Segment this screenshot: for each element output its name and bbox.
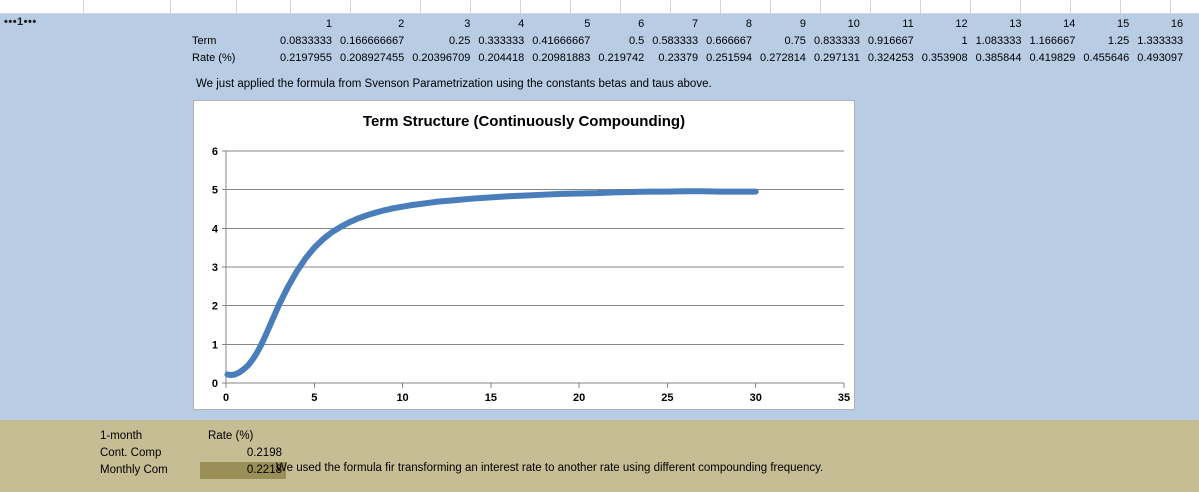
table-cell[interactable]: 0.23379	[648, 50, 702, 67]
column-index-header: 11	[864, 16, 918, 33]
table-cell[interactable]: 0.353908	[918, 50, 972, 67]
table-cell[interactable]: 0.5	[594, 33, 648, 50]
column-index-header: 9	[756, 16, 810, 33]
table-row: Monthly Com0.2218	[98, 462, 286, 479]
column-index-header: 4	[474, 16, 528, 33]
chart-x-tick-label: 20	[573, 392, 585, 404]
chart-y-tick-label: 3	[212, 262, 218, 274]
table-cell[interactable]: 1.333333	[1133, 33, 1187, 50]
chart-y-tick-label: 5	[212, 185, 218, 197]
chart-x-tick-label: 0	[223, 392, 229, 404]
chart-x-tick-label: 30	[750, 392, 762, 404]
spreadsheet-column-strip[interactable]	[0, 0, 1199, 14]
table-cell[interactable]: 0.666667	[702, 33, 756, 50]
table-cell[interactable]: 0.333333	[474, 33, 528, 50]
table-cell[interactable]: 1.25	[1079, 33, 1133, 50]
term-structure-chart[interactable]: Term Structure (Continuously Compounding…	[193, 100, 855, 410]
column-separator	[1070, 0, 1071, 14]
column-separator	[770, 0, 771, 14]
column-separator	[620, 0, 621, 14]
table-cell[interactable]: 0.25	[408, 33, 474, 50]
chart-x-tick-label: 10	[396, 392, 408, 404]
table-row: Cont. Comp0.2198	[98, 445, 286, 462]
column-separator	[1170, 0, 1171, 14]
column-index-header: 16	[1133, 16, 1187, 33]
table-cell[interactable]: 0.833333	[810, 33, 864, 50]
chart-svg: 012345605101520253035	[194, 101, 854, 409]
value-cell[interactable]: 0.2198	[200, 445, 286, 462]
row-label: Rate (%)	[190, 50, 276, 67]
chart-x-tick-label: 5	[311, 392, 317, 404]
chart-x-tick-label: 15	[485, 392, 497, 404]
column-index-header: 14	[1026, 16, 1080, 33]
table-cell[interactable]: 0.385844	[972, 50, 1026, 67]
table-cell[interactable]: 1.166667	[1026, 33, 1080, 50]
row-label: Cont. Comp	[98, 445, 200, 462]
column-separator	[670, 0, 671, 14]
table-cell[interactable]: 1.083333	[972, 33, 1026, 50]
chart-series-line	[227, 191, 755, 375]
table-cell[interactable]: 0.916667	[864, 33, 918, 50]
column-separator	[350, 0, 351, 14]
table-cell[interactable]: 0.583333	[648, 33, 702, 50]
column-separator	[1120, 0, 1121, 14]
table-header-row: 12345678910111213141516	[190, 16, 1187, 33]
table-cell[interactable]: 0.41666667	[528, 33, 594, 50]
row-label: 1-month	[98, 428, 200, 445]
svenson-note: We just applied the formula from Svenson…	[196, 78, 712, 90]
term-rate-table: 12345678910111213141516Term0.08333330.16…	[190, 16, 1187, 67]
table-cell[interactable]: 0.20396709	[408, 50, 474, 67]
table-cell[interactable]: 0.75	[756, 33, 810, 50]
chart-y-tick-label: 1	[212, 339, 218, 351]
compounding-note: We used the formula fir transforming an …	[276, 462, 823, 474]
table-row: 1-monthRate (%)	[98, 428, 286, 445]
table-cell[interactable]: 0.204418	[474, 50, 528, 67]
chart-y-tick-label: 6	[212, 146, 218, 158]
chart-x-tick-label: 25	[661, 392, 673, 404]
table-cell[interactable]: 0.272814	[756, 50, 810, 67]
column-index-header: 6	[594, 16, 648, 33]
row-marker-1: •••1•••	[4, 16, 37, 28]
row-label: Term	[190, 33, 276, 50]
column-separator	[820, 0, 821, 14]
table-cell[interactable]: 0.419829	[1026, 50, 1080, 67]
row-label: Monthly Com	[98, 462, 200, 479]
table-cell[interactable]: 0.455646	[1079, 50, 1133, 67]
compounding-table: 1-monthRate (%)Cont. Comp0.2198Monthly C…	[98, 428, 286, 479]
spreadsheet-screenshot: •••1••• •••2••• 12345678910111213141516T…	[0, 0, 1199, 492]
highlighted-value-cell[interactable]: 0.2218	[200, 462, 286, 479]
chart-y-tick-label: 2	[212, 301, 218, 313]
table-cell[interactable]: 0.251594	[702, 50, 756, 67]
table-row: Term0.08333330.1666666670.250.3333330.41…	[190, 33, 1187, 50]
column-index-header: 7	[648, 16, 702, 33]
chart-y-tick-label: 4	[212, 223, 219, 235]
column-separator	[520, 0, 521, 14]
column-separator	[83, 0, 84, 14]
column-index-header: 3	[408, 16, 474, 33]
column-index-header: 12	[918, 16, 972, 33]
table-cell[interactable]: 0.208927455	[336, 50, 408, 67]
column-separator	[870, 0, 871, 14]
table-cell[interactable]: 0.20981883	[528, 50, 594, 67]
column-separator	[170, 0, 171, 14]
column-index-header: 1	[276, 16, 336, 33]
column-separator	[236, 0, 237, 14]
column-separator	[420, 0, 421, 14]
column-separator	[290, 0, 291, 14]
column-index-header: 2	[336, 16, 408, 33]
column-separator	[470, 0, 471, 14]
table-row: Rate (%)0.21979550.2089274550.203967090.…	[190, 50, 1187, 67]
column-separator	[970, 0, 971, 14]
table-cell[interactable]: 0.2197955	[276, 50, 336, 67]
column-index-header: 15	[1079, 16, 1133, 33]
column-index-header: 10	[810, 16, 864, 33]
column-separator	[1020, 0, 1021, 14]
chart-y-tick-label: 0	[212, 378, 218, 390]
table-cell[interactable]: 0.166666667	[336, 33, 408, 50]
chart-plot-area: 012345605101520253035	[194, 101, 854, 409]
value-cell[interactable]: Rate (%)	[200, 428, 286, 445]
column-separator	[570, 0, 571, 14]
column-index-header: 8	[702, 16, 756, 33]
table-cell[interactable]: 0.493097	[1133, 50, 1187, 67]
table-corner-cell	[190, 16, 276, 33]
table-cell[interactable]: 1	[918, 33, 972, 50]
table-cell[interactable]: 0.0833333	[276, 33, 336, 50]
column-index-header: 13	[972, 16, 1026, 33]
column-separator	[720, 0, 721, 14]
column-index-header: 5	[528, 16, 594, 33]
column-separator	[920, 0, 921, 14]
table-cell[interactable]: 0.297131	[810, 50, 864, 67]
table-cell[interactable]: 0.219742	[594, 50, 648, 67]
chart-x-tick-label: 35	[838, 392, 850, 404]
table-cell[interactable]: 0.324253	[864, 50, 918, 67]
